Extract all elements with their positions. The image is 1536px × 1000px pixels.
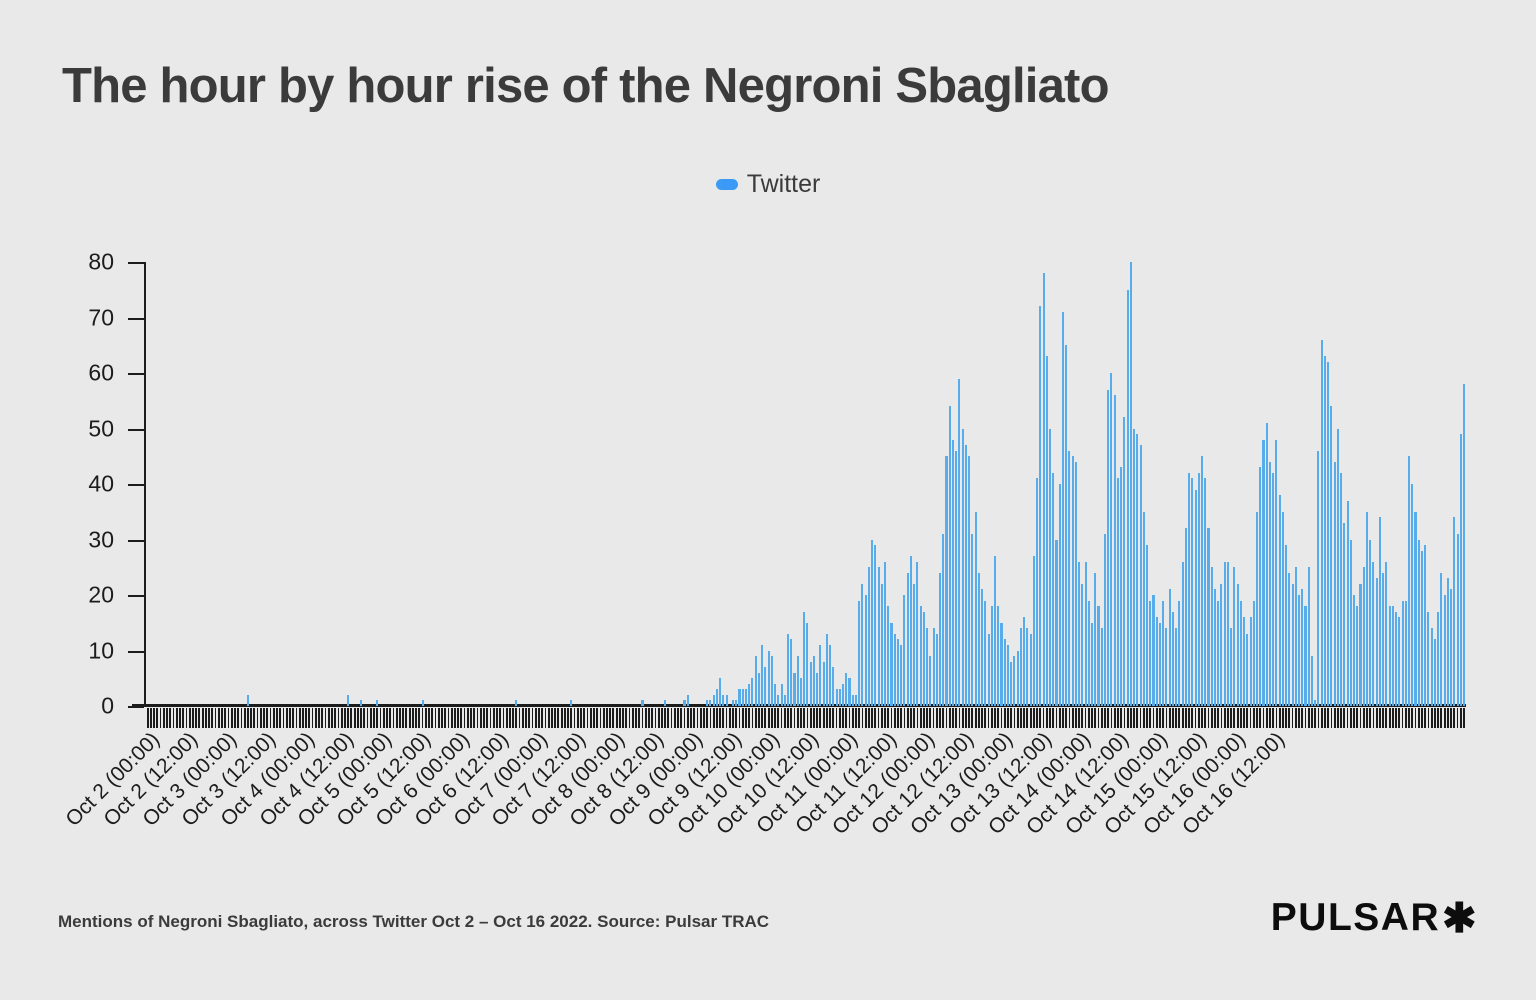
- hour-tick-mark: [1172, 708, 1174, 728]
- hour-tick-mark: [587, 708, 589, 728]
- hour-tick-mark: [422, 708, 424, 728]
- hour-tick-mark: [480, 708, 482, 728]
- hour-tick-mark: [771, 708, 773, 728]
- hour-tick-mark: [1331, 708, 1333, 728]
- hour-tick-mark: [1353, 708, 1355, 728]
- hour-tick-mark: [260, 708, 262, 728]
- hour-tick-mark: [735, 708, 737, 728]
- hour-tick-mark: [1424, 708, 1426, 728]
- hour-tick-mark: [263, 708, 265, 728]
- hour-tick-mark: [1298, 708, 1300, 728]
- hour-tick-mark: [612, 708, 614, 728]
- hour-tick-mark: [1127, 708, 1129, 728]
- hour-tick-mark: [1221, 708, 1223, 728]
- hour-tick-mark: [389, 708, 391, 728]
- hour-tick-mark: [1360, 708, 1362, 728]
- hour-tick-mark: [515, 708, 517, 728]
- hour-tick-mark: [331, 708, 333, 728]
- hour-tick-mark: [745, 708, 747, 728]
- hour-tick-mark: [211, 708, 213, 728]
- hour-tick-mark: [797, 708, 799, 728]
- y-tick-label: 0: [101, 693, 114, 720]
- hour-tick-mark: [1217, 708, 1219, 728]
- y-tick-mark: [128, 373, 144, 375]
- hour-tick-mark: [541, 708, 543, 728]
- hour-tick-mark: [493, 708, 495, 728]
- hour-tick-mark: [1049, 708, 1051, 728]
- hour-tick-mark: [428, 708, 430, 728]
- footer-caption: Mentions of Negroni Sbagliato, across Tw…: [58, 912, 769, 932]
- hour-tick-mark: [234, 708, 236, 728]
- hour-tick-mark: [710, 708, 712, 728]
- hour-tick-slot: [1462, 708, 1465, 728]
- hour-tick-mark: [949, 708, 951, 728]
- hour-tick-mark: [1085, 708, 1087, 728]
- hour-tick-mark: [435, 708, 437, 728]
- hour-tick-mark: [671, 708, 673, 728]
- hour-tick-mark: [800, 708, 802, 728]
- hour-tick-mark: [752, 708, 754, 728]
- hour-tick-mark: [1162, 708, 1164, 728]
- hour-tick-mark: [176, 708, 178, 728]
- hour-tick-mark: [638, 708, 640, 728]
- hour-tick-mark: [1214, 708, 1216, 728]
- hour-tick-mark: [1343, 708, 1345, 728]
- y-tick-mark: [128, 318, 144, 320]
- hour-tick-mark: [1140, 708, 1142, 728]
- hour-tick-mark: [1059, 708, 1061, 728]
- hour-tick-mark: [596, 708, 598, 728]
- hour-tick-mark: [490, 708, 492, 728]
- hour-tick-mark: [509, 708, 511, 728]
- hour-tick-mark: [674, 708, 676, 728]
- hour-tick-mark: [1256, 708, 1258, 728]
- hour-tick-mark: [1259, 708, 1261, 728]
- hour-tick-mark: [1107, 708, 1109, 728]
- hour-tick-mark: [758, 708, 760, 728]
- hour-tick-mark: [1321, 708, 1323, 728]
- hour-tick-mark: [939, 708, 941, 728]
- hour-tick-mark: [1046, 708, 1048, 728]
- bar[interactable]: [1463, 384, 1465, 706]
- hour-tick-mark: [603, 708, 605, 728]
- hour-tick-mark: [858, 708, 860, 728]
- hour-tick-mark: [1347, 708, 1349, 728]
- hour-tick-mark: [1405, 708, 1407, 728]
- hour-tick-mark: [713, 708, 715, 728]
- hour-tick-mark: [1385, 708, 1387, 728]
- hour-tick-mark: [198, 708, 200, 728]
- hour-tick-mark: [367, 708, 369, 728]
- hour-tick-mark: [929, 708, 931, 728]
- hour-tick-mark: [1230, 708, 1232, 728]
- hour-tick-mark: [1340, 708, 1342, 728]
- hour-tick-mark: [1233, 708, 1235, 728]
- hour-tick-mark: [819, 708, 821, 728]
- hour-tick-mark: [1133, 708, 1135, 728]
- hour-tick-mark: [1130, 708, 1132, 728]
- hour-tick-mark: [764, 708, 766, 728]
- hour-tick-mark: [622, 708, 624, 728]
- hour-tick-mark: [215, 708, 217, 728]
- hour-tick-mark: [496, 708, 498, 728]
- hour-tick-mark: [318, 708, 320, 728]
- hour-tick-mark: [1198, 708, 1200, 728]
- y-tick-mark: [128, 484, 144, 486]
- hour-tick-mark: [431, 708, 433, 728]
- hour-tick-mark: [173, 708, 175, 728]
- hour-tick-mark: [486, 708, 488, 728]
- hour-tick-mark: [315, 708, 317, 728]
- hour-tick-mark: [386, 708, 388, 728]
- hour-tick-mark: [1153, 708, 1155, 728]
- hour-tick-mark: [470, 708, 472, 728]
- hour-tick-mark: [1337, 708, 1339, 728]
- hour-tick-mark: [913, 708, 915, 728]
- hour-tick-mark: [703, 708, 705, 728]
- hour-tick-mark: [1243, 708, 1245, 728]
- hour-tick-mark: [1014, 708, 1016, 728]
- hour-tick-mark: [1136, 708, 1138, 728]
- hour-tick-mark: [687, 708, 689, 728]
- brand-logo: PULSAR✱: [1271, 896, 1478, 940]
- hour-tick-mark: [1191, 708, 1193, 728]
- hour-tick-mark: [1143, 708, 1145, 728]
- hour-tick-mark: [373, 708, 375, 728]
- hour-tick-mark: [399, 708, 401, 728]
- hour-tick-mark: [1072, 708, 1074, 728]
- hour-tick-mark: [334, 708, 336, 728]
- hour-tick-mark: [894, 708, 896, 728]
- hour-tick-mark: [1392, 708, 1394, 728]
- hour-tick-mark: [878, 708, 880, 728]
- hour-tick-mark: [629, 708, 631, 728]
- hour-tick-mark: [810, 708, 812, 728]
- y-tick-mark: [128, 429, 144, 431]
- hour-tick-mark: [412, 708, 414, 728]
- hour-tick-mark: [1149, 708, 1151, 728]
- hour-tick-mark: [457, 708, 459, 728]
- hour-tick-mark: [360, 708, 362, 728]
- hour-tick-mark: [299, 708, 301, 728]
- hour-tick-mark: [525, 708, 527, 728]
- hour-tick-mark: [160, 708, 162, 728]
- hour-tick-mark: [1428, 708, 1430, 728]
- hour-tick-mark: [250, 708, 252, 728]
- hour-tick-mark: [716, 708, 718, 728]
- hour-tick-mark: [658, 708, 660, 728]
- hour-tick-mark: [153, 708, 155, 728]
- hour-tick-mark: [376, 708, 378, 728]
- hour-tick-mark: [441, 708, 443, 728]
- hour-tick-mark: [532, 708, 534, 728]
- bar-slot: [1462, 262, 1465, 706]
- hour-tick-mark: [1091, 708, 1093, 728]
- hour-tick-mark: [1030, 708, 1032, 728]
- hour-tick-mark: [409, 708, 411, 728]
- hour-tick-mark: [677, 708, 679, 728]
- hour-tick-mark: [1437, 708, 1439, 728]
- hour-tick-mark: [460, 708, 462, 728]
- hour-tick-mark: [881, 708, 883, 728]
- hour-tick-mark: [862, 708, 864, 728]
- hour-tick-mark: [868, 708, 870, 728]
- hour-tick-mark: [276, 708, 278, 728]
- chart-page: The hour by hour rise of the Negroni Sba…: [0, 0, 1536, 1000]
- hour-tick-mark: [1376, 708, 1378, 728]
- hour-tick-mark: [1389, 708, 1391, 728]
- hour-tick-mark: [574, 708, 576, 728]
- hour-tick-mark: [1305, 708, 1307, 728]
- y-tick-label: 50: [88, 415, 114, 442]
- hour-tick-mark: [755, 708, 757, 728]
- hour-tick-mark: [1395, 708, 1397, 728]
- hour-tick-mark: [561, 708, 563, 728]
- hour-tick-mark: [292, 708, 294, 728]
- hour-tick-mark: [1327, 708, 1329, 728]
- hour-tick-mark: [467, 708, 469, 728]
- hour-tick-mark: [169, 708, 171, 728]
- hour-tick-mark: [1175, 708, 1177, 728]
- hour-tick-mark: [302, 708, 304, 728]
- hour-tick-mark: [438, 708, 440, 728]
- hour-tick-mark: [1010, 708, 1012, 728]
- hour-tick-mark: [991, 708, 993, 728]
- hour-tick-mark: [1240, 708, 1242, 728]
- hour-tick-mark: [557, 708, 559, 728]
- hour-tick-mark: [651, 708, 653, 728]
- hour-tick-mark: [852, 708, 854, 728]
- hour-tick-mark: [907, 708, 909, 728]
- hour-tick-mark: [865, 708, 867, 728]
- hour-tick-mark: [503, 708, 505, 728]
- hour-tick-mark: [1033, 708, 1035, 728]
- y-tick-label: 30: [88, 526, 114, 553]
- hour-tick-mark: [202, 708, 204, 728]
- hour-tick-mark: [1279, 708, 1281, 728]
- hour-tick-mark: [464, 708, 466, 728]
- hour-tick-mark: [1075, 708, 1077, 728]
- hour-tick-mark: [305, 708, 307, 728]
- hour-tick-mark: [1447, 708, 1449, 728]
- hour-tick-mark: [499, 708, 501, 728]
- hour-tick-mark: [570, 708, 572, 728]
- hour-tick-mark: [1036, 708, 1038, 728]
- hour-tick-mark: [273, 708, 275, 728]
- hour-tick-mark: [1007, 708, 1009, 728]
- hour-tick-mark: [968, 708, 970, 728]
- hour-tick-mark: [1288, 708, 1290, 728]
- hour-tick-mark: [279, 708, 281, 728]
- hour-tick-mark: [283, 708, 285, 728]
- hour-tick-mark: [519, 708, 521, 728]
- hour-tick-mark: [732, 708, 734, 728]
- hour-tick-mark: [774, 708, 776, 728]
- hour-tick-mark: [1182, 708, 1184, 728]
- hour-tick-mark: [874, 708, 876, 728]
- hour-tick-mark: [946, 708, 948, 728]
- hour-tick-mark: [887, 708, 889, 728]
- hour-tick-mark: [551, 708, 553, 728]
- hour-tick-mark: [1081, 708, 1083, 728]
- hour-tick-mark: [347, 708, 349, 728]
- hour-tick-mark: [554, 708, 556, 728]
- hour-tick-mark: [926, 708, 928, 728]
- hour-tick-mark: [528, 708, 530, 728]
- hour-tick-mark: [1017, 708, 1019, 728]
- hour-tick-mark: [590, 708, 592, 728]
- hour-tick-mark: [1069, 708, 1071, 728]
- hour-tick-mark: [693, 708, 695, 728]
- hour-tick-mark: [425, 708, 427, 728]
- hour-tick-mark: [415, 708, 417, 728]
- hour-tick-mark: [448, 708, 450, 728]
- hour-tick-mark: [1272, 708, 1274, 728]
- y-tick-label: 20: [88, 582, 114, 609]
- hour-tick-mark: [289, 708, 291, 728]
- hour-tick-mark: [690, 708, 692, 728]
- hour-tick-mark: [163, 708, 165, 728]
- hour-tick-mark: [1301, 708, 1303, 728]
- hour-tick-mark: [567, 708, 569, 728]
- hour-tick-mark: [1379, 708, 1381, 728]
- hour-tick-mark: [156, 708, 158, 728]
- hour-tick-mark: [338, 708, 340, 728]
- hour-tick-mark: [1056, 708, 1058, 728]
- hour-tick-mark: [742, 708, 744, 728]
- hour-tick-mark: [1227, 708, 1229, 728]
- hour-tick-mark: [807, 708, 809, 728]
- hour-tick-mark: [270, 708, 272, 728]
- hour-tick-mark: [1062, 708, 1064, 728]
- hour-tick-mark: [451, 708, 453, 728]
- hour-tick-mark: [1285, 708, 1287, 728]
- hour-tick-mark: [625, 708, 627, 728]
- hour-tick-mark: [1434, 708, 1436, 728]
- hour-tick-mark: [357, 708, 359, 728]
- hour-tick-mark: [418, 708, 420, 728]
- hour-tick-mark: [189, 708, 191, 728]
- hour-tick-mark: [803, 708, 805, 728]
- hour-tick-mark: [891, 708, 893, 728]
- hour-tick-mark: [473, 708, 475, 728]
- hour-tick-mark: [981, 708, 983, 728]
- hour-tick-mark: [1266, 708, 1268, 728]
- hour-tick-mark: [1208, 708, 1210, 728]
- hour-tick-mark: [1237, 708, 1239, 728]
- hour-tick-mark: [1246, 708, 1248, 728]
- hour-tick-mark: [253, 708, 255, 728]
- hour-tick-mark: [1253, 708, 1255, 728]
- hour-tick-mark: [680, 708, 682, 728]
- hour-tick-mark: [354, 708, 356, 728]
- hour-tick-mark: [726, 708, 728, 728]
- hour-tick-mark: [748, 708, 750, 728]
- y-tick-mark: [128, 262, 144, 264]
- hour-tick-mark: [580, 708, 582, 728]
- bar-series-twitter: [146, 262, 1465, 706]
- hour-tick-mark: [396, 708, 398, 728]
- hour-tick-mark: [836, 708, 838, 728]
- hour-tick-mark: [1263, 708, 1265, 728]
- hour-tick-mark: [978, 708, 980, 728]
- x-axis-labels: Oct 2 (00:00)Oct 2 (12:00)Oct 3 (00:00)O…: [146, 728, 1465, 868]
- hour-tick-mark: [839, 708, 841, 728]
- y-tick-label: 10: [88, 637, 114, 664]
- hour-tick-mark: [959, 708, 961, 728]
- hour-tick-mark: [1402, 708, 1404, 728]
- hour-tick-mark: [1023, 708, 1025, 728]
- y-tick-label: 40: [88, 471, 114, 498]
- y-axis-labels: 01020304050607080: [62, 250, 114, 706]
- hour-tick-mark: [179, 708, 181, 728]
- hour-tick-mark: [312, 708, 314, 728]
- hour-tick-mark: [1026, 708, 1028, 728]
- hour-tick-mark: [231, 708, 233, 728]
- hour-tick-mark: [648, 708, 650, 728]
- hour-tick-mark: [224, 708, 226, 728]
- asterisk-icon: ✱: [1442, 898, 1478, 939]
- hour-tick-mark: [1463, 708, 1465, 728]
- hour-tick-mark: [994, 708, 996, 728]
- hour-tick-mark: [816, 708, 818, 728]
- hour-tick-mark: [444, 708, 446, 728]
- hour-tick-mark: [955, 708, 957, 728]
- hour-tick-mark: [813, 708, 815, 728]
- hour-tick-mark: [1169, 708, 1171, 728]
- hour-tick-mark: [257, 708, 259, 728]
- hour-tick-mark: [1195, 708, 1197, 728]
- hour-tick-mark: [1366, 708, 1368, 728]
- hour-tick-mark: [321, 708, 323, 728]
- hour-tick-mark: [344, 708, 346, 728]
- hour-tick-mark: [997, 708, 999, 728]
- hour-tick-mark: [186, 708, 188, 728]
- hour-tick-mark: [655, 708, 657, 728]
- hour-tick-mark: [182, 708, 184, 728]
- hour-tick-mark: [645, 708, 647, 728]
- hour-tick-mark: [700, 708, 702, 728]
- hour-tick-mark: [871, 708, 873, 728]
- hour-tick-mark: [1004, 708, 1006, 728]
- hour-tick-mark: [1159, 708, 1161, 728]
- hour-tick-mark: [1078, 708, 1080, 728]
- hour-tick-mark: [483, 708, 485, 728]
- hour-tick-mark: [402, 708, 404, 728]
- hour-tick-mark: [897, 708, 899, 728]
- hour-tick-mark: [1431, 708, 1433, 728]
- hour-tick-mark: [1318, 708, 1320, 728]
- hour-tick-mark: [706, 708, 708, 728]
- hour-tick-mark: [1156, 708, 1158, 728]
- y-tick-mark: [128, 595, 144, 597]
- y-tick-mark: [128, 540, 144, 542]
- hour-tick-mark: [1104, 708, 1106, 728]
- hour-tick-mark: [768, 708, 770, 728]
- hour-tick-mark: [1065, 708, 1067, 728]
- hour-tick-mark: [296, 708, 298, 728]
- hour-tick-mark: [790, 708, 792, 728]
- hour-tick-mark: [1178, 708, 1180, 728]
- hour-tick-mark: [341, 708, 343, 728]
- hour-tick-mark: [1001, 708, 1003, 728]
- hour-tick-mark: [1111, 708, 1113, 728]
- hour-tick-mark: [1369, 708, 1371, 728]
- hour-tick-mark: [380, 708, 382, 728]
- hour-tick-mark: [522, 708, 524, 728]
- hour-tick-mark: [784, 708, 786, 728]
- hour-tick-mark: [393, 708, 395, 728]
